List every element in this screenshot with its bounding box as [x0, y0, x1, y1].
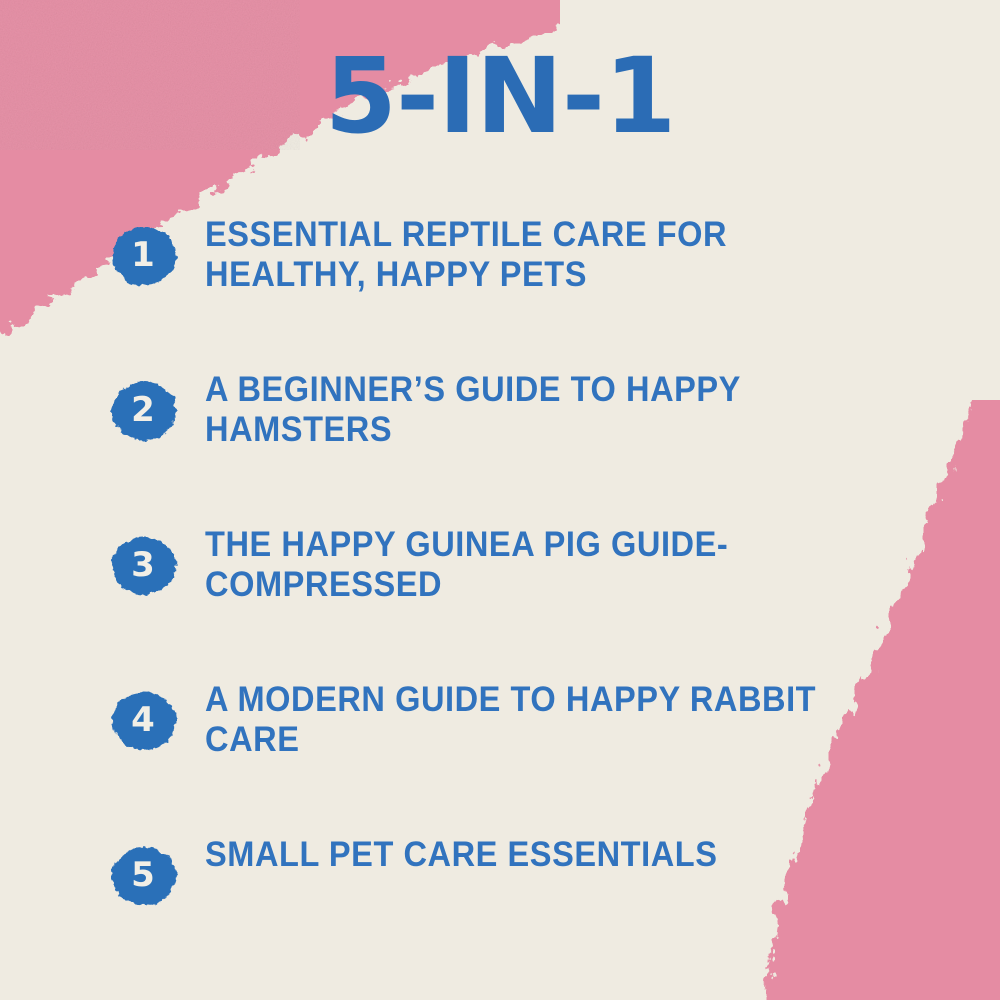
list-item: 1 Essential Reptile Care for Healthy, Ha… [0, 215, 1000, 370]
list-item: 3 The Happy Guinea Pig Guide-Compressed [0, 525, 1000, 680]
numbered-list: 1 Essential Reptile Care for Healthy, Ha… [0, 215, 1000, 990]
list-item: 4 A Modern Guide to Happy Rabbit Care [0, 680, 1000, 835]
number-badge-1: 1 [108, 223, 180, 289]
list-item-text: Essential Reptile Care for Healthy, Happ… [205, 215, 856, 295]
number-badge-2: 2 [108, 378, 180, 444]
list-item-text: Small Pet Care Essentials [205, 835, 856, 875]
list-item-text: A Beginner’s Guide to Happy Hamsters [205, 370, 856, 450]
title-block: 5-IN-1 [0, 44, 1000, 148]
badge-number-label: 4 [108, 688, 178, 754]
badge-number-label: 3 [108, 533, 178, 599]
page-title: 5-IN-1 [325, 44, 676, 148]
list-item: 2 A Beginner’s Guide to Happy Hamsters [0, 370, 1000, 525]
badge-number-label: 2 [108, 378, 178, 444]
number-badge-5: 5 [108, 843, 180, 909]
list-item-text: The Happy Guinea Pig Guide-Compressed [205, 525, 856, 605]
badge-number-label: 1 [108, 223, 178, 289]
number-badge-4: 4 [108, 688, 180, 754]
list-item-text: A Modern Guide to Happy Rabbit Care [205, 680, 856, 760]
badge-number-label: 5 [108, 843, 178, 909]
poster-canvas: 5-IN-1 1 Essential Reptile Care for Heal… [0, 0, 1000, 1000]
number-badge-3: 3 [108, 533, 180, 599]
list-item: 5 Small Pet Care Essentials [0, 835, 1000, 990]
